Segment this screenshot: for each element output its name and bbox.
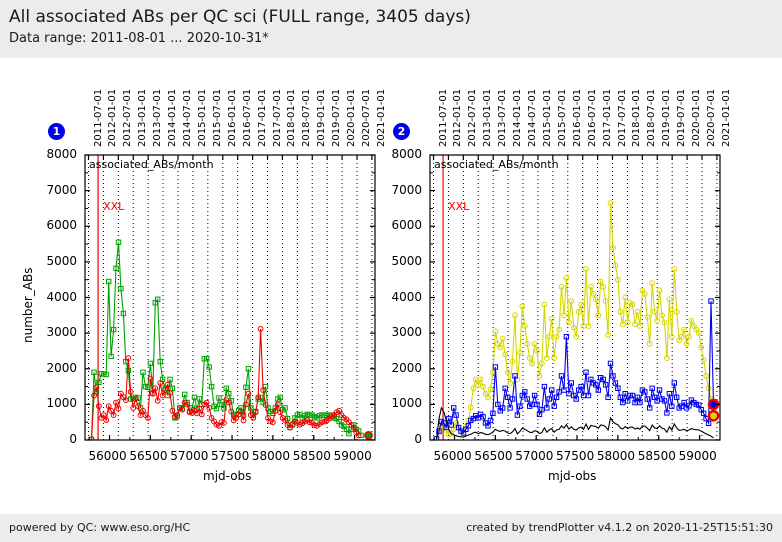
panel-badge-2[interactable]: 2 [393,123,410,140]
x-top-date-label: 2017-07-01 [272,89,283,147]
x-top-date-label: 2012-01-01 [452,89,463,147]
y-tick-label: 1000 [372,396,422,410]
xxl-annotation: XXL [448,200,469,213]
x-tick-label: 57000 [515,449,553,463]
data-point-green [366,58,370,62]
x-top-date-label: 2013-01-01 [482,89,493,147]
x-axis-title: mjd-obs [203,469,251,483]
panel-inplot-label: associated_ABs/month [89,158,214,171]
data-point-red [361,58,366,60]
x-top-date-label: 2013-01-01 [137,89,148,147]
data-point-red [366,58,371,60]
y-tick-label: 4000 [372,290,422,304]
y-tick-label: 6000 [372,218,422,232]
page-title: All associated ABs per QC sci (FULL rang… [9,5,782,29]
x-tick-label: 56000 [434,449,472,463]
x-top-date-label: 2019-01-01 [316,89,327,147]
x-top-date-label: 2012-07-01 [122,89,133,147]
footer-credit-right: created by trendPlotter v4.1.2 on 2020-1… [466,521,773,534]
x-tick-label: 56500 [474,449,512,463]
y-tick-label: 6000 [27,218,77,232]
x-top-date-label: 2016-01-01 [572,89,583,147]
x-top-date-label: 2011-07-01 [93,89,104,147]
data-point-green [364,58,368,62]
x-tick-label: 58000 [597,449,635,463]
x-top-date-label: 2012-07-01 [467,89,478,147]
page-subtitle: Data range: 2011-08-01 ... 2020-10-31* [9,29,782,49]
y-tick-label: 0 [27,432,77,446]
x-top-date-label: 2014-07-01 [527,89,538,147]
y-tick-label: 8000 [372,147,422,161]
x-top-date-label: 2016-07-01 [242,89,253,147]
x-top-date-label: 2013-07-01 [152,89,163,147]
x-top-date-label: 2014-01-01 [167,89,178,147]
x-top-date-label: 2016-07-01 [587,89,598,147]
x-tick-label: 57000 [170,449,208,463]
data-point-red [359,58,364,60]
y-tick-label: 1000 [27,396,77,410]
y-tick-label: 7000 [27,183,77,197]
panel-2 [430,155,720,441]
y-tick-label: 5000 [372,254,422,268]
x-top-date-label: 2015-01-01 [542,89,553,147]
x-top-date-label: 2015-07-01 [557,89,568,147]
x-tick-label: 59000 [679,449,717,463]
y-tick-label: 0 [372,432,422,446]
x-top-date-label: 2019-07-01 [676,89,687,147]
y-tick-label: 3000 [372,325,422,339]
x-tick-label: 58000 [252,449,290,463]
x-top-date-label: 2014-01-01 [512,89,523,147]
data-point-red [364,58,369,60]
x-top-date-label: 2019-07-01 [331,89,342,147]
x-top-date-label: 2011-07-01 [438,89,449,147]
x-tick-label: 56000 [89,449,127,463]
panel-badge-1[interactable]: 1 [48,123,65,140]
x-top-date-label: 2021-01-01 [721,89,732,147]
footer-credit-left: powered by QC: www.eso.org/HC [9,521,190,534]
x-top-date-label: 2019-01-01 [661,89,672,147]
x-top-date-label: 2018-07-01 [646,89,657,147]
last-point-highlight [709,411,718,420]
x-top-date-label: 2018-01-01 [286,89,297,147]
x-top-date-label: 2020-07-01 [361,89,372,147]
panel-inplot-label: associated_ABs/month [434,158,559,171]
x-top-date-label: 2013-07-01 [497,89,508,147]
x-top-date-label: 2015-01-01 [197,89,208,147]
x-top-date-label: 2016-01-01 [227,89,238,147]
x-top-date-label: 2018-07-01 [301,89,312,147]
x-top-date-label: 2017-07-01 [617,89,628,147]
y-tick-label: 8000 [27,147,77,161]
x-tick-label: 59000 [334,449,372,463]
x-top-date-label: 2020-01-01 [691,89,702,147]
x-top-date-label: 2012-01-01 [107,89,118,147]
x-top-date-label: 2021-01-01 [376,89,387,147]
y-tick-label: 2000 [27,361,77,375]
x-tick-label: 56500 [129,449,167,463]
y-tick-label: 5000 [27,254,77,268]
xxl-annotation: XXL [103,200,124,213]
x-tick-label: 58500 [293,449,331,463]
trend-plot-page: All associated ABs per QC sci (FULL rang… [0,0,782,542]
y-tick-label: 2000 [372,361,422,375]
x-top-date-label: 2017-01-01 [257,89,268,147]
x-axis-title: mjd-obs [548,469,596,483]
x-tick-label: 57500 [211,449,249,463]
x-top-date-label: 2020-01-01 [346,89,357,147]
x-tick-label: 58500 [638,449,676,463]
y-axis-title: number_ABs [21,267,35,343]
x-top-date-label: 2020-07-01 [706,89,717,147]
x-top-date-label: 2014-07-01 [182,89,193,147]
y-tick-label: 7000 [372,183,422,197]
page-header: All associated ABs per QC sci (FULL rang… [0,0,782,58]
x-top-date-label: 2018-01-01 [631,89,642,147]
x-top-date-label: 2017-01-01 [602,89,613,147]
page-footer: powered by QC: www.eso.org/HC created by… [0,514,782,542]
x-top-date-label: 2015-07-01 [212,89,223,147]
x-tick-label: 57500 [556,449,594,463]
data-point-green [361,58,365,62]
